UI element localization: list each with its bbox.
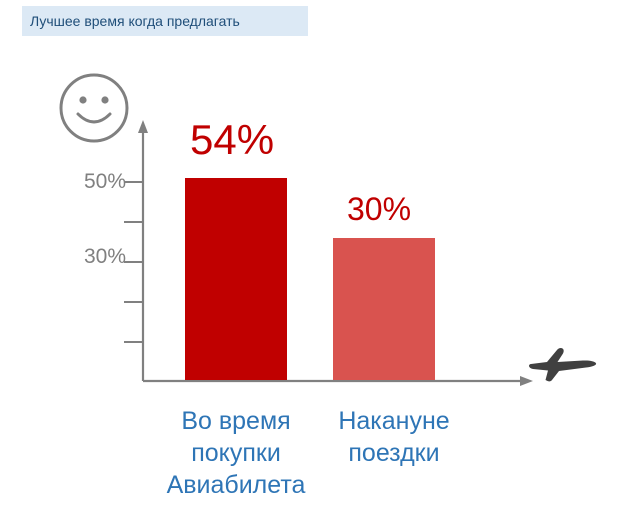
bar-during-ticket-purchase xyxy=(185,178,287,380)
slide-canvas: Лучшее время когда предлагать 50% 30% 54… xyxy=(0,0,619,523)
bar-value-label-2: 30% xyxy=(347,190,411,228)
y-tick-label-30: 30% xyxy=(56,245,126,269)
bar-value-label-1: 54% xyxy=(190,116,274,164)
airplane-icon xyxy=(527,340,599,384)
page-title: Лучшее время когда предлагать xyxy=(30,13,240,29)
bar-day-before-trip xyxy=(333,238,435,380)
category-label-2: Накануне поездки xyxy=(294,405,494,469)
y-tick-label-50: 50% xyxy=(56,170,126,194)
smiley-face-icon xyxy=(58,72,130,144)
title-banner: Лучшее время когда предлагать xyxy=(22,6,308,36)
